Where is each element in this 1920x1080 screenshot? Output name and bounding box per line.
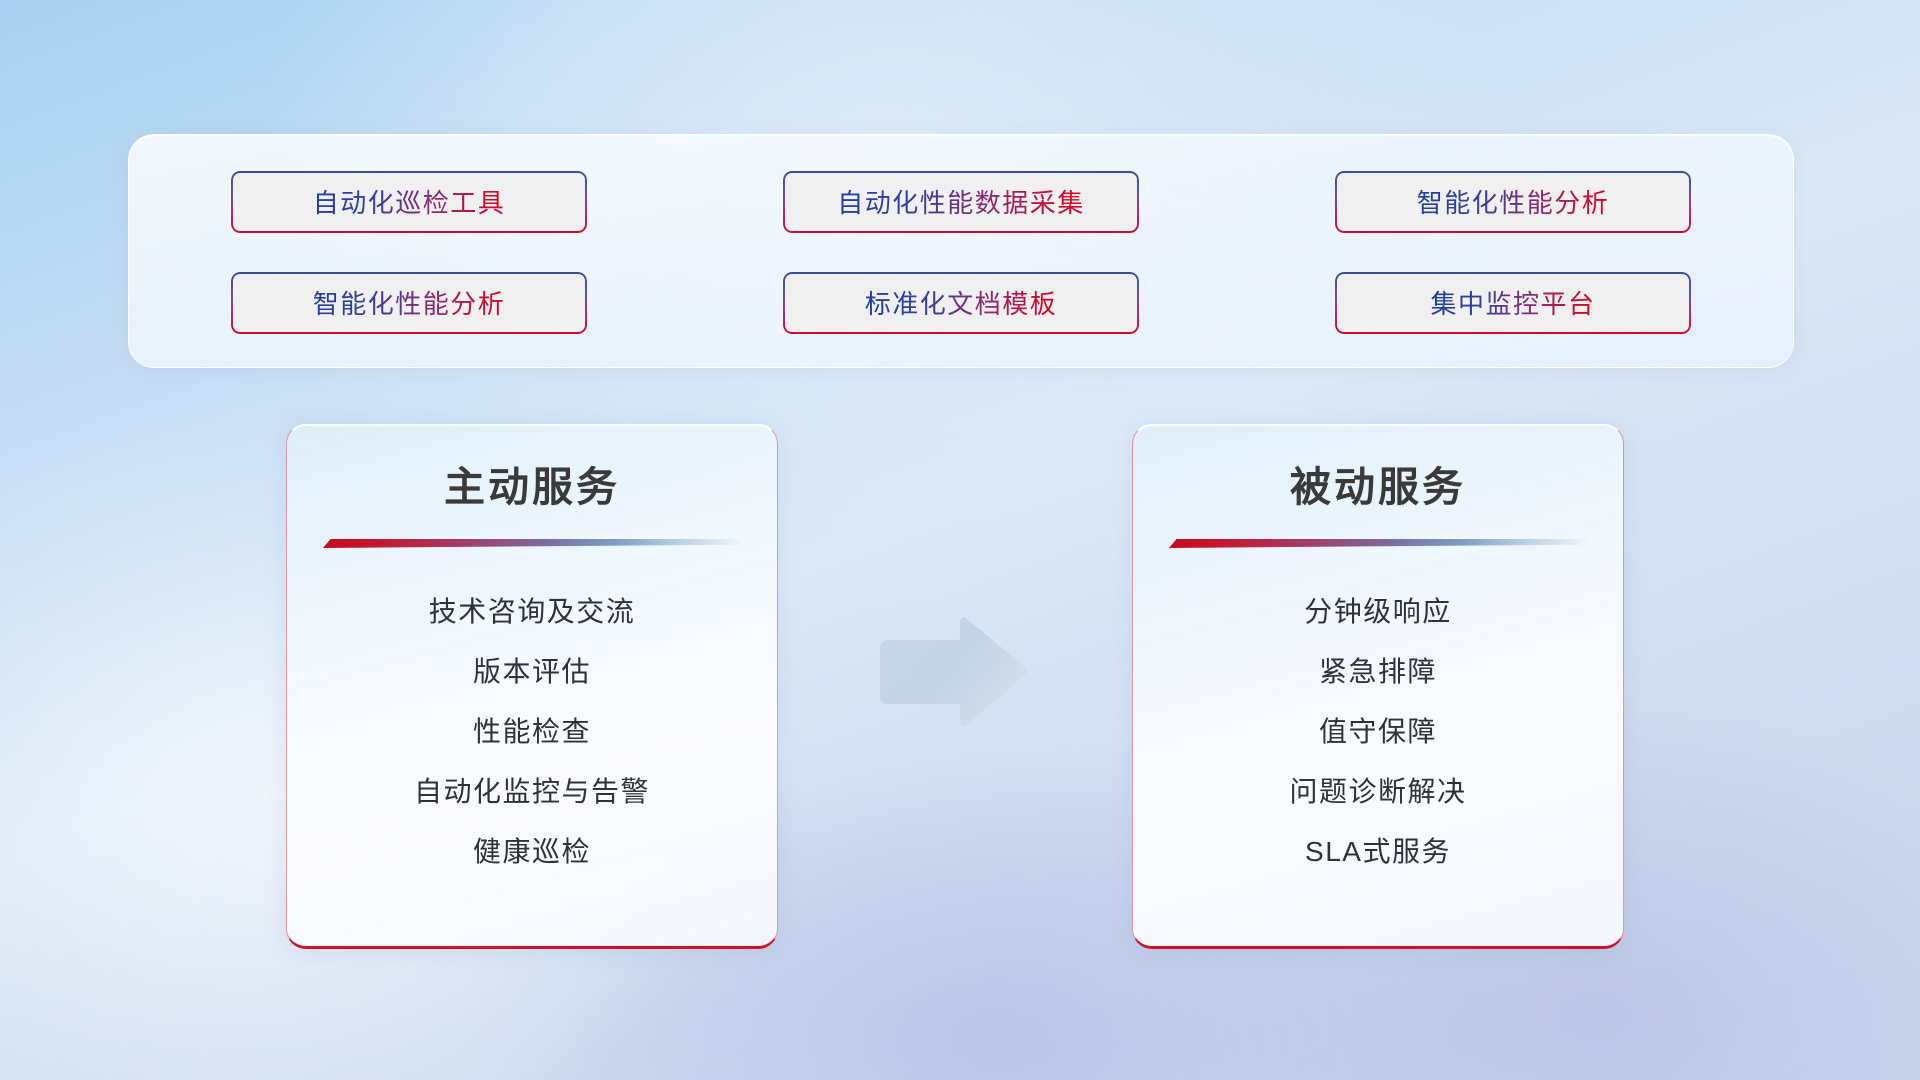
- right-arrow-icon: [872, 612, 1032, 732]
- capability-pill-1[interactable]: 自动化巡检工具: [231, 171, 587, 233]
- capability-pill-3[interactable]: 智能化性能分析: [1335, 171, 1691, 233]
- card-title: 主动服务: [323, 467, 741, 508]
- capability-pill-label: 集中监控平台: [1430, 284, 1595, 321]
- capability-pill-label: 自动化性能数据采集: [837, 183, 1085, 220]
- list-item: SLA式服务: [1169, 834, 1587, 869]
- list-item: 健康巡检: [323, 834, 741, 869]
- capability-pill-2[interactable]: 自动化性能数据采集: [783, 171, 1139, 233]
- diagram-canvas: 自动化巡检工具 自动化性能数据采集 智能化性能分析 智能化性能分析 标准化文档模…: [0, 0, 1920, 1080]
- capability-panel: 自动化巡检工具 自动化性能数据采集 智能化性能分析 智能化性能分析 标准化文档模…: [128, 134, 1794, 368]
- list-item: 性能检查: [323, 714, 741, 749]
- capability-pill-4[interactable]: 智能化性能分析: [231, 272, 587, 334]
- card-divider: [323, 539, 741, 548]
- card-divider: [1169, 539, 1587, 548]
- list-item: 紧急排障: [1169, 654, 1587, 689]
- card-item-list: 分钟级响应 紧急排障 值守保障 问题诊断解决 SLA式服务: [1169, 594, 1587, 869]
- service-card-passive: 被动服务 分钟级响应 紧急排障 值守保障 问题诊断解决 SLA式服务: [1132, 424, 1624, 949]
- list-item: 问题诊断解决: [1169, 774, 1587, 809]
- capability-pill-6[interactable]: 集中监控平台: [1335, 272, 1691, 334]
- capability-pill-label: 自动化巡检工具: [313, 183, 506, 220]
- list-item: 技术咨询及交流: [323, 594, 741, 629]
- list-item: 自动化监控与告警: [323, 774, 741, 809]
- service-card-active: 主动服务 技术咨询及交流 版本评估 性能检查 自动化监控与告警 健康巡检: [286, 424, 778, 949]
- card-title: 被动服务: [1169, 467, 1587, 508]
- list-item: 分钟级响应: [1169, 594, 1587, 629]
- list-item: 值守保障: [1169, 714, 1587, 749]
- list-item: 版本评估: [323, 654, 741, 689]
- capability-pill-grid: 自动化巡检工具 自动化性能数据采集 智能化性能分析 智能化性能分析 标准化文档模…: [231, 171, 1691, 334]
- card-item-list: 技术咨询及交流 版本评估 性能检查 自动化监控与告警 健康巡检: [323, 594, 741, 869]
- capability-pill-label: 智能化性能分析: [313, 284, 506, 321]
- capability-pill-label: 标准化文档模板: [865, 284, 1058, 321]
- capability-pill-label: 智能化性能分析: [1417, 183, 1610, 220]
- capability-pill-5[interactable]: 标准化文档模板: [783, 272, 1139, 334]
